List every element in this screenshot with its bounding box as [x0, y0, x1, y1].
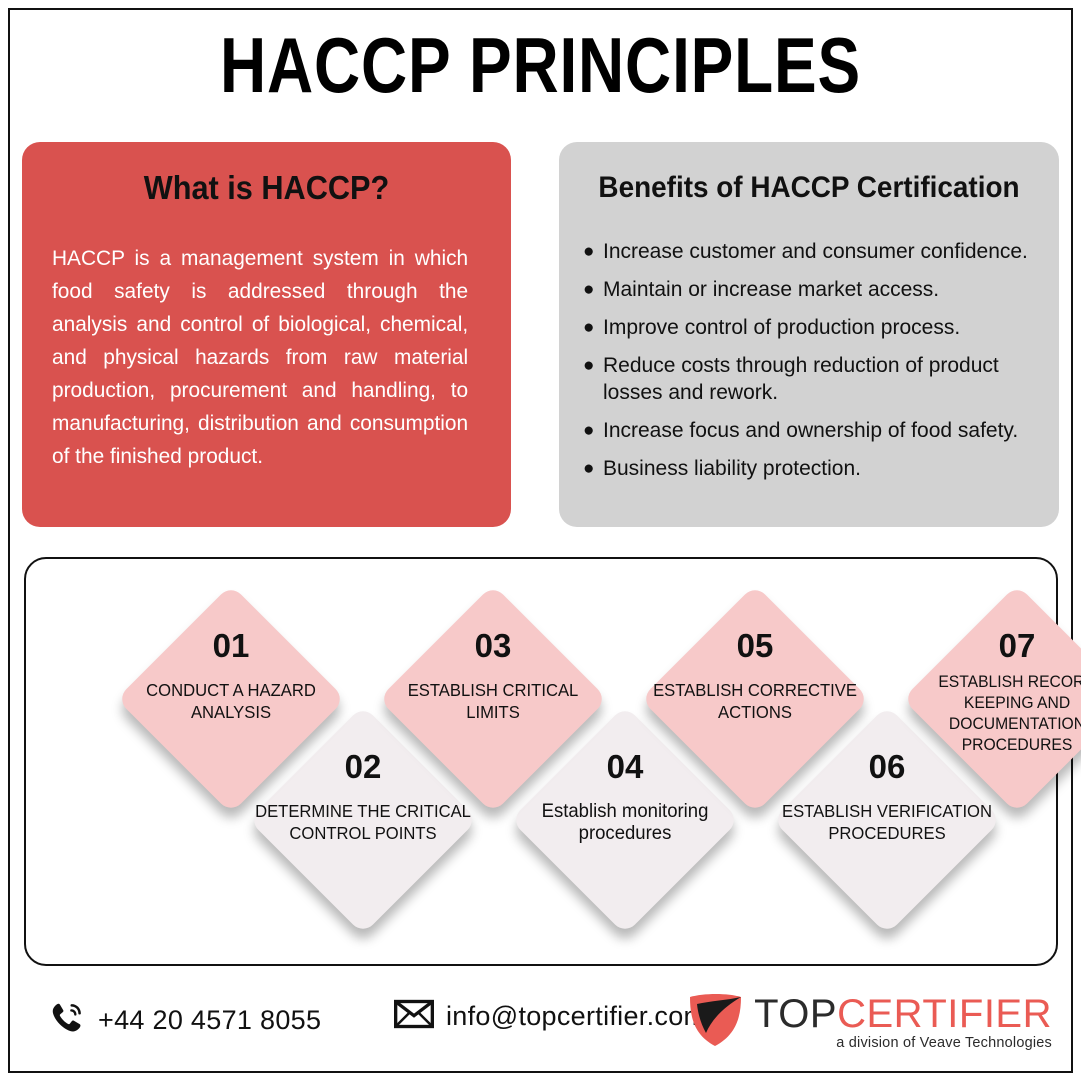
- principle-step-03: 03 ESTABLISH CRITICAL LIMITS: [378, 584, 608, 814]
- bullet-icon: ●: [583, 455, 594, 482]
- phone-contact[interactable]: +44 20 4571 8055: [48, 999, 321, 1042]
- principles-container: 02 DETERMINE THE CRITICAL CONTROL POINTS…: [24, 557, 1058, 966]
- list-item: ●Increase focus and ownership of food sa…: [581, 417, 1037, 444]
- diamond-shape: [640, 584, 869, 813]
- list-item-label: Business liability protection.: [603, 457, 861, 480]
- topcertifier-logo[interactable]: TOPCERTIFIER a division of Veave Technol…: [684, 991, 1052, 1054]
- logo-text: TOPCERTIFIER a division of Veave Technol…: [754, 994, 1052, 1051]
- list-item: ●Business liability protection.: [581, 455, 1037, 482]
- logo-wordmark: TOPCERTIFIER: [754, 994, 1052, 1034]
- infographic-page: HACCP PRINCIPLES What is HACCP? HACCP is…: [0, 0, 1081, 1081]
- bullet-icon: ●: [583, 417, 594, 444]
- what-is-haccp-panel: What is HACCP? HACCP is a management sys…: [22, 142, 511, 527]
- shield-check-icon: [684, 991, 746, 1054]
- diamond-shape: [378, 584, 607, 813]
- footer: +44 20 4571 8055 info@topcertifier.com: [24, 985, 1058, 1073]
- logo-tagline: a division of Veave Technologies: [754, 1036, 1052, 1051]
- bullet-icon: ●: [583, 276, 594, 303]
- logo-word-top: TOP: [754, 992, 837, 1036]
- email-address: info@topcertifier.com: [446, 1001, 706, 1032]
- benefits-heading: Benefits of HACCP Certification: [597, 168, 1021, 208]
- envelope-icon: [394, 999, 434, 1034]
- what-is-haccp-heading: What is HACCP?: [67, 168, 466, 208]
- list-item: ●Maintain or increase market access.: [581, 276, 1037, 303]
- list-item: ●Improve control of production process.: [581, 314, 1037, 341]
- email-contact[interactable]: info@topcertifier.com: [394, 999, 706, 1034]
- logo-word-certifier: CERTIFIER: [837, 992, 1052, 1036]
- bullet-icon: ●: [583, 314, 594, 341]
- principle-step-07: 07 ESTABLISH RECORD KEEPING AND DOCUMENT…: [902, 584, 1081, 814]
- diamond-shape: [902, 584, 1081, 813]
- list-item-label: Increase focus and ownership of food saf…: [603, 419, 1018, 442]
- list-item-label: Maintain or increase market access.: [603, 278, 939, 301]
- bullet-icon: ●: [583, 352, 594, 379]
- what-is-haccp-body: HACCP is a management system in which fo…: [52, 242, 468, 473]
- phone-number: +44 20 4571 8055: [98, 1005, 321, 1036]
- principle-step-01: 01 CONDUCT A HAZARD ANALYSIS: [116, 584, 346, 814]
- list-item: ●Reduce costs through reduction of produ…: [581, 352, 1037, 406]
- list-item-label: Reduce costs through reduction of produc…: [603, 354, 999, 404]
- principle-step-05: 05 ESTABLISH CORRECTIVE ACTIONS: [640, 584, 870, 814]
- page-title: HACCP PRINCIPLES: [97, 22, 983, 108]
- benefits-list: ●Increase customer and consumer confiden…: [581, 238, 1037, 482]
- list-item-label: Increase customer and consumer confidenc…: [603, 240, 1028, 263]
- list-item: ●Increase customer and consumer confiden…: [581, 238, 1037, 265]
- phone-icon: [48, 999, 86, 1042]
- diamond-shape: [116, 584, 345, 813]
- bullet-icon: ●: [583, 238, 594, 265]
- list-item-label: Improve control of production process.: [603, 316, 960, 339]
- benefits-panel: Benefits of HACCP Certification ●Increas…: [559, 142, 1059, 527]
